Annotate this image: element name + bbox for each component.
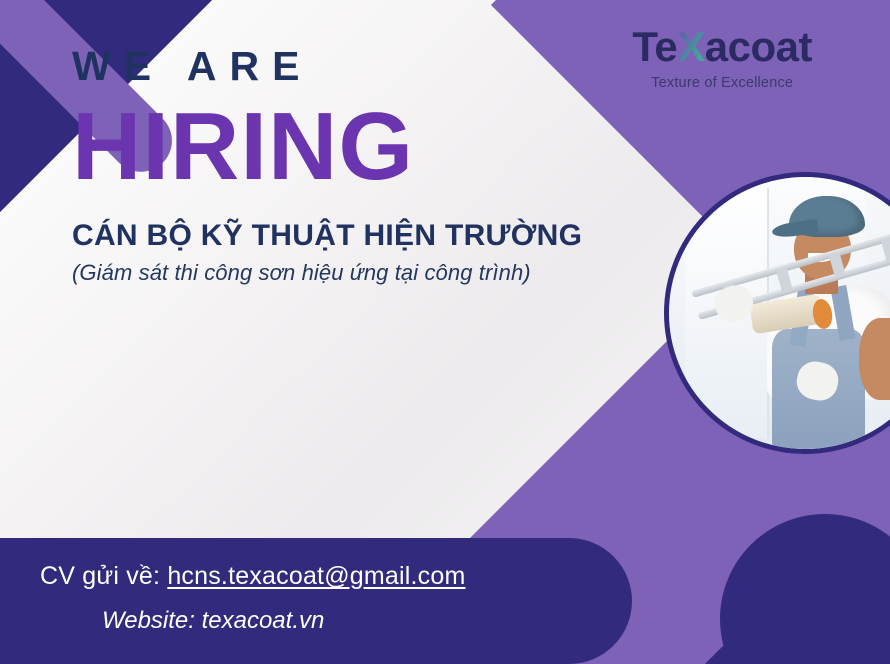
brand-logo: TeXacoat Texture of Excellence — [632, 26, 812, 91]
photo-worker-arm — [859, 318, 890, 400]
hiring-title: HIRING — [72, 99, 582, 195]
logo-x-icon: X — [677, 23, 705, 70]
recruitment-poster: TeXacoat Texture of Excellence WE ARE HI… — [0, 0, 890, 664]
contact-website-link[interactable]: Website: texacoat.vn — [102, 607, 465, 635]
job-subtitle: (Giám sát thi công sơn hiệu ứng tại công… — [72, 260, 582, 286]
worker-photo-circle — [664, 172, 890, 454]
logo-text-part1: Te — [632, 23, 677, 70]
logo-wordmark: TeXacoat — [632, 26, 812, 68]
ladder-rung — [775, 267, 792, 292]
worker-photo — [669, 177, 890, 449]
job-title: CÁN BỘ KỸ THUẬT HIỆN TRƯỜNG — [72, 219, 582, 252]
contact-email-link[interactable]: hcns.texacoat@gmail.com — [167, 562, 465, 590]
ladder-rung — [881, 237, 890, 262]
logo-text-part2: acoat — [705, 23, 812, 70]
contact-email-label: CV gửi về: — [40, 562, 160, 590]
contact-banner: CV gửi về: hcns.texacoat@gmail.com Websi… — [0, 538, 632, 664]
contact-email-line: CV gửi về: hcns.texacoat@gmail.com — [40, 562, 465, 591]
ladder-rung — [828, 252, 845, 277]
contact-lines: CV gửi về: hcns.texacoat@gmail.com Websi… — [40, 562, 465, 635]
headline-block: WE ARE HIRING CÁN BỘ KỸ THUẬT HIỆN TRƯỜN… — [72, 46, 582, 286]
eyebrow-text: WE ARE — [72, 46, 582, 87]
logo-tagline: Texture of Excellence — [632, 75, 812, 91]
